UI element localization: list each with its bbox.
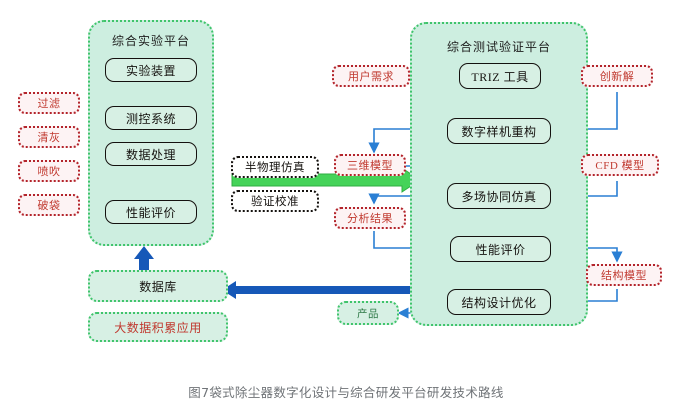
- left-platform-title: 综合实验平台: [88, 32, 214, 49]
- middle-tag-semi-physical-simulation[interactable]: 半物理仿真: [231, 156, 319, 178]
- left-tag-pulse-jet[interactable]: 喷吹: [18, 160, 80, 182]
- input-tag-analysis-result[interactable]: 分析结果: [334, 207, 406, 229]
- right-step-1[interactable]: TRIZ 工具: [459, 63, 541, 89]
- right-step-2[interactable]: 数字样机重构: [447, 118, 551, 144]
- product-box[interactable]: 产品: [337, 301, 399, 325]
- output-tag-structural-model[interactable]: 结构模型: [586, 264, 662, 286]
- right-step-3[interactable]: 多场协同仿真: [447, 183, 551, 209]
- output-tag-innovative-solution[interactable]: 创新解: [581, 65, 653, 87]
- left-step-4[interactable]: 性能评价: [105, 200, 197, 224]
- input-tag-3d-model[interactable]: 三维模型: [334, 154, 406, 176]
- left-tag-ash-cleaning[interactable]: 清灰: [18, 126, 80, 148]
- big-data-application-box[interactable]: 大数据积累应用: [88, 312, 228, 342]
- left-step-2[interactable]: 测控系统: [105, 106, 197, 130]
- figure-canvas: 综合实验平台 实验装置 测控系统 数据处理 性能评价 过滤 清灰 喷吹 破袋 半…: [0, 0, 692, 412]
- left-step-3[interactable]: 数据处理: [105, 142, 197, 166]
- figure-caption: 图7袋式除尘器数字化设计与综合研发平台研发技术路线: [0, 382, 692, 401]
- right-platform-title: 综合测试验证平台: [410, 38, 588, 55]
- database-box[interactable]: 数据库: [88, 270, 228, 302]
- left-tag-filtration[interactable]: 过滤: [18, 92, 80, 114]
- left-step-1[interactable]: 实验装置: [105, 58, 197, 82]
- input-tag-user-requirements[interactable]: 用户需求: [332, 65, 410, 87]
- left-tag-bag-rupture[interactable]: 破袋: [18, 194, 80, 216]
- right-step-4[interactable]: 性能评价: [450, 236, 551, 262]
- output-tag-cfd-model[interactable]: CFD 模型: [581, 154, 659, 176]
- right-step-5[interactable]: 结构设计优化: [447, 289, 551, 315]
- middle-tag-verification-calibration[interactable]: 验证校准: [231, 190, 319, 212]
